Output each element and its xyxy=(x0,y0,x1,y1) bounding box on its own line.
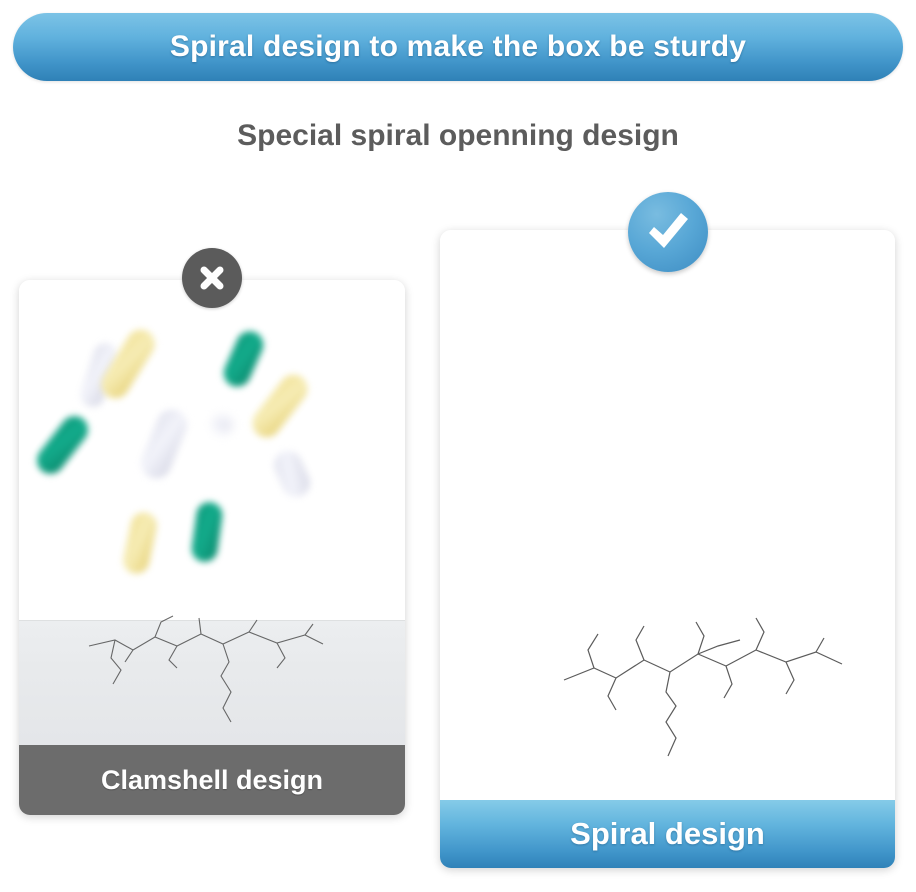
check-icon xyxy=(643,207,693,257)
capsule-teal xyxy=(32,411,94,480)
check-icon-badge xyxy=(628,192,708,272)
headline-banner: Spiral design to make the box be sturdy xyxy=(13,13,903,81)
cross-icon-badge xyxy=(182,248,242,308)
clamshell-product-photo xyxy=(19,280,405,745)
comparison-card-clamshell: Clamshell design xyxy=(19,280,405,815)
capsule-white xyxy=(213,415,232,434)
clamshell-caption-text: Clamshell design xyxy=(101,765,323,796)
comparison-card-spiral: Spiral design xyxy=(440,230,895,868)
capsule-white xyxy=(137,405,192,483)
clamshell-caption-bar: Clamshell design xyxy=(19,745,405,815)
headline-banner-text: Spiral design to make the box be sturdy xyxy=(170,30,746,64)
spiral-caption-text: Spiral design xyxy=(570,816,765,852)
capsule-white xyxy=(269,446,314,501)
spiral-caption-bar: Spiral design xyxy=(440,800,895,868)
subtitle-text: Special spiral openning design xyxy=(0,119,916,153)
crack-marks-icon xyxy=(558,610,848,760)
crack-marks-icon xyxy=(81,610,331,725)
cross-icon xyxy=(196,262,228,294)
capsule-teal xyxy=(219,327,267,391)
capsule-yellow xyxy=(121,510,159,576)
capsule-teal xyxy=(190,500,224,563)
spiral-product-photo xyxy=(440,230,895,800)
capsule-yellow xyxy=(247,369,313,443)
